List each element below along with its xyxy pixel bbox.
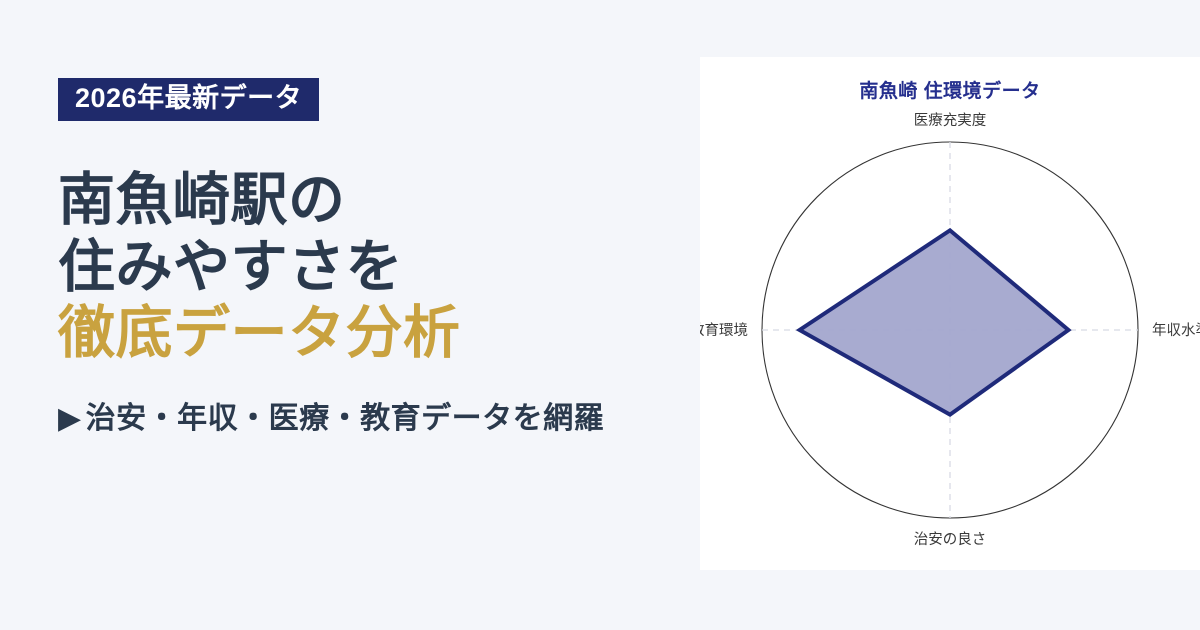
axis-label-top: 医療充実度: [914, 112, 987, 129]
axis-label-right: 年収水準: [1152, 322, 1200, 339]
axis-label-left: 教育環境: [700, 321, 748, 339]
headline-line-3-highlight: 徹底データ分析: [58, 300, 700, 367]
page-title: 南魚崎駅の 住みやすさを 徹底データ分析: [58, 167, 700, 367]
axis-label-bottom: 治安の良さ: [914, 531, 987, 548]
date-badge: 2026年最新データ: [58, 78, 319, 121]
headline-line-1: 南魚崎駅の: [58, 167, 700, 234]
subtitle: ▶治安・年収・医療・教育データを網羅: [58, 393, 700, 437]
hero-left-panel: 2026年最新データ 南魚崎駅の 住みやすさを 徹底データ分析 ▶治安・年収・医…: [0, 0, 700, 630]
radar-chart: 医療充実度 年収水準 治安の良さ 教育環境: [700, 57, 1200, 570]
subtitle-text: 治安・年収・医療・教育データを網羅: [86, 402, 605, 435]
radar-chart-card: 南魚崎 住環境データ 医療充実度 年収水準 治安の良さ 教育環境: [700, 57, 1200, 570]
radar-data-polygon: [800, 230, 1069, 414]
headline-line-2: 住みやすさを: [58, 234, 700, 301]
triangle-right-icon: ▶: [58, 401, 82, 436]
